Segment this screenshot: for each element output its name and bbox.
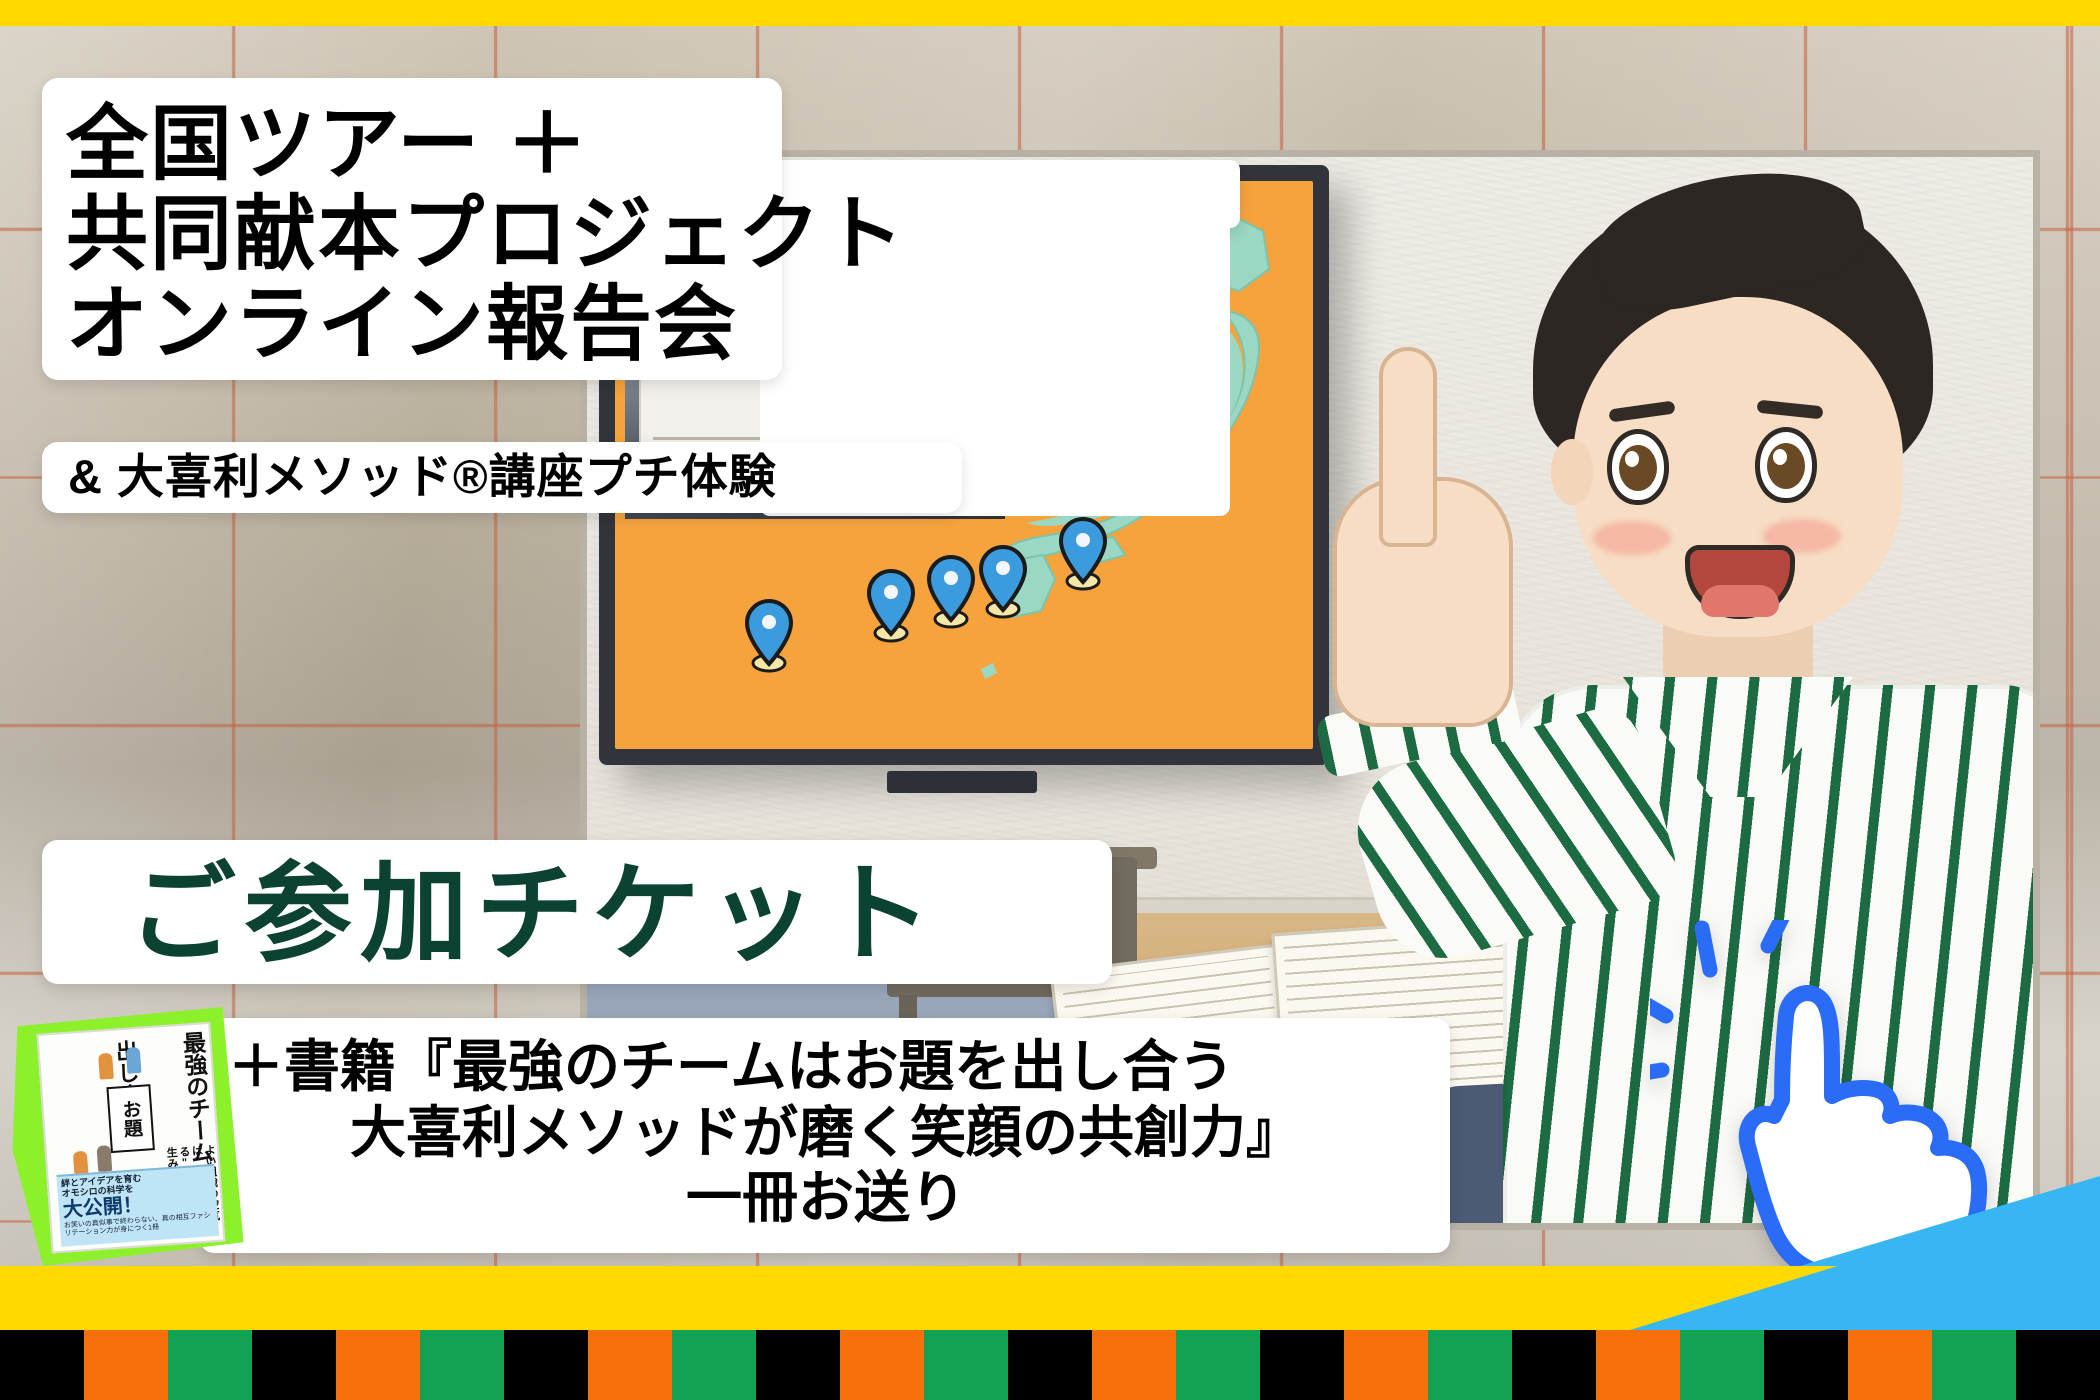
- subtitle-text: & 大喜利メソッド®講座プチ体験: [68, 452, 944, 501]
- monitor-stand: [887, 771, 1037, 793]
- book-offer-card: ＋書籍『最強のチームはお題を出し合う 大喜利メソッドが磨く笑顔の共創力』 一冊お…: [200, 1018, 1450, 1253]
- character-blush-left: [1593, 521, 1671, 555]
- book-offer-line-2: 大喜利メソッドが磨く笑顔の共創力』: [228, 1100, 1424, 1166]
- checker-cell: [252, 1330, 336, 1400]
- map-pin-kyushu: [747, 601, 791, 671]
- book-offer-line-1: ＋書籍『最強のチームはお題を出し合う: [228, 1034, 1424, 1100]
- checker-cell: [1680, 1330, 1764, 1400]
- checker-cell: [1848, 1330, 1932, 1400]
- checker-cell: [336, 1330, 420, 1400]
- checker-cell: [84, 1330, 168, 1400]
- book-cover-thumbnail: 最強のチーム 出し合う お題 よい組織の空気は"大喜利"による"笑い合い"で生み…: [18, 1015, 234, 1260]
- character-ear: [1551, 439, 1593, 505]
- checker-cell: [1176, 1330, 1260, 1400]
- ticket-heading-card: ご参加チケット: [42, 840, 1112, 984]
- book-obi-band: 絆とアイデアを育む オモシロの科学を 大公開！ お笑いの真似事で終わらない、真の…: [56, 1164, 219, 1247]
- checker-cell: [924, 1330, 1008, 1400]
- checker-cell: [168, 1330, 252, 1400]
- checker-cell: [1344, 1330, 1428, 1400]
- checker-strip: [0, 1330, 2100, 1400]
- character-pupil-right: [1773, 449, 1787, 465]
- checker-cell: [1260, 1330, 1344, 1400]
- checker-cell: [504, 1330, 588, 1400]
- checker-cell: [1512, 1330, 1596, 1400]
- checker-cell: [1764, 1330, 1848, 1400]
- subtitle-card: & 大喜利メソッド®講座プチ体験: [42, 442, 962, 513]
- checker-cell: [756, 1330, 840, 1400]
- character-iris-left: [1619, 445, 1657, 491]
- checker-cell: [2016, 1330, 2100, 1400]
- title-line-1: 全国ツアー ＋: [66, 104, 762, 186]
- checker-cell: [0, 1330, 84, 1400]
- checker-cell: [1932, 1330, 2016, 1400]
- checker-cell: [840, 1330, 924, 1400]
- title-line-3: オンライン報告会: [66, 284, 762, 366]
- character-pupil-left: [1625, 451, 1639, 467]
- checker-cell: [1092, 1330, 1176, 1400]
- map-pin-chubu: [981, 547, 1025, 617]
- checker-cell: [588, 1330, 672, 1400]
- book-figures-top: [96, 1044, 161, 1088]
- map-pin-kansai: [929, 557, 973, 627]
- ticket-heading: ご参加チケット: [128, 860, 1088, 968]
- map-pin-chugoku: [869, 571, 913, 641]
- top-yellow-band: [0, 0, 2100, 26]
- checker-cell: [672, 1330, 756, 1400]
- character-tongue: [1701, 585, 1779, 617]
- checker-cell: [1428, 1330, 1512, 1400]
- checker-cell: [1596, 1330, 1680, 1400]
- title-card: 全国ツアー ＋ 共同献本プロジェクト オンライン報告会: [42, 78, 782, 380]
- map-pin-kanto: [1061, 519, 1105, 589]
- book-offer-line-3: 一冊お送り: [228, 1165, 1424, 1231]
- checker-cell: [420, 1330, 504, 1400]
- checker-cell: [1008, 1330, 1092, 1400]
- book-cover: 最強のチーム 出し合う お題 よい組織の空気は"大喜利"による"笑い合い"で生み…: [37, 1022, 226, 1254]
- character-pointing-finger: [1379, 347, 1437, 547]
- title-line-2: 共同献本プロジェクト: [66, 194, 762, 276]
- character-iris-right: [1767, 443, 1805, 489]
